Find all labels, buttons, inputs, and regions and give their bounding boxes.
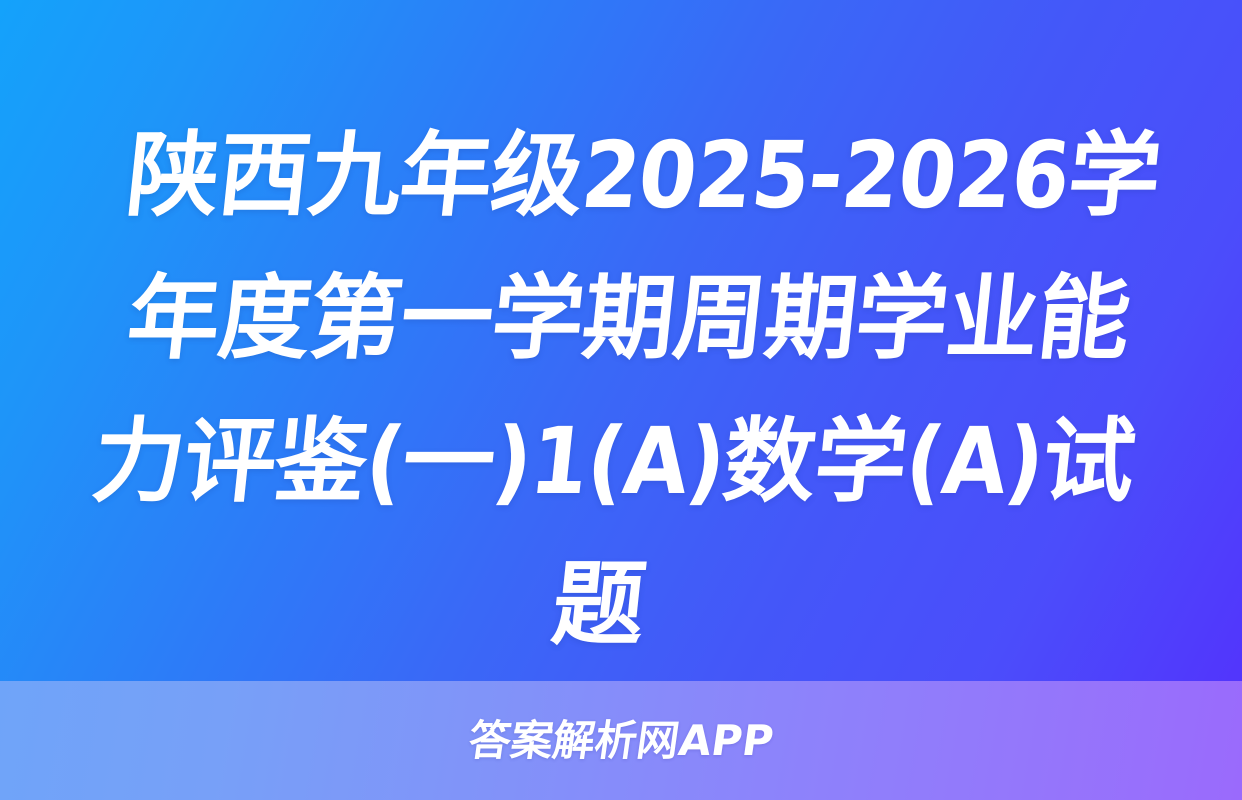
watermark-container: 答案解析网APP xyxy=(0,681,1242,800)
watermark-brand-label: 答案解析网APP xyxy=(466,717,777,765)
poster-canvas: 陕西九年级2025-2026学年度第一学期周期学业能力评鉴(一)1(A)数学(A… xyxy=(0,0,1242,800)
background-gradient-main xyxy=(0,0,1242,681)
